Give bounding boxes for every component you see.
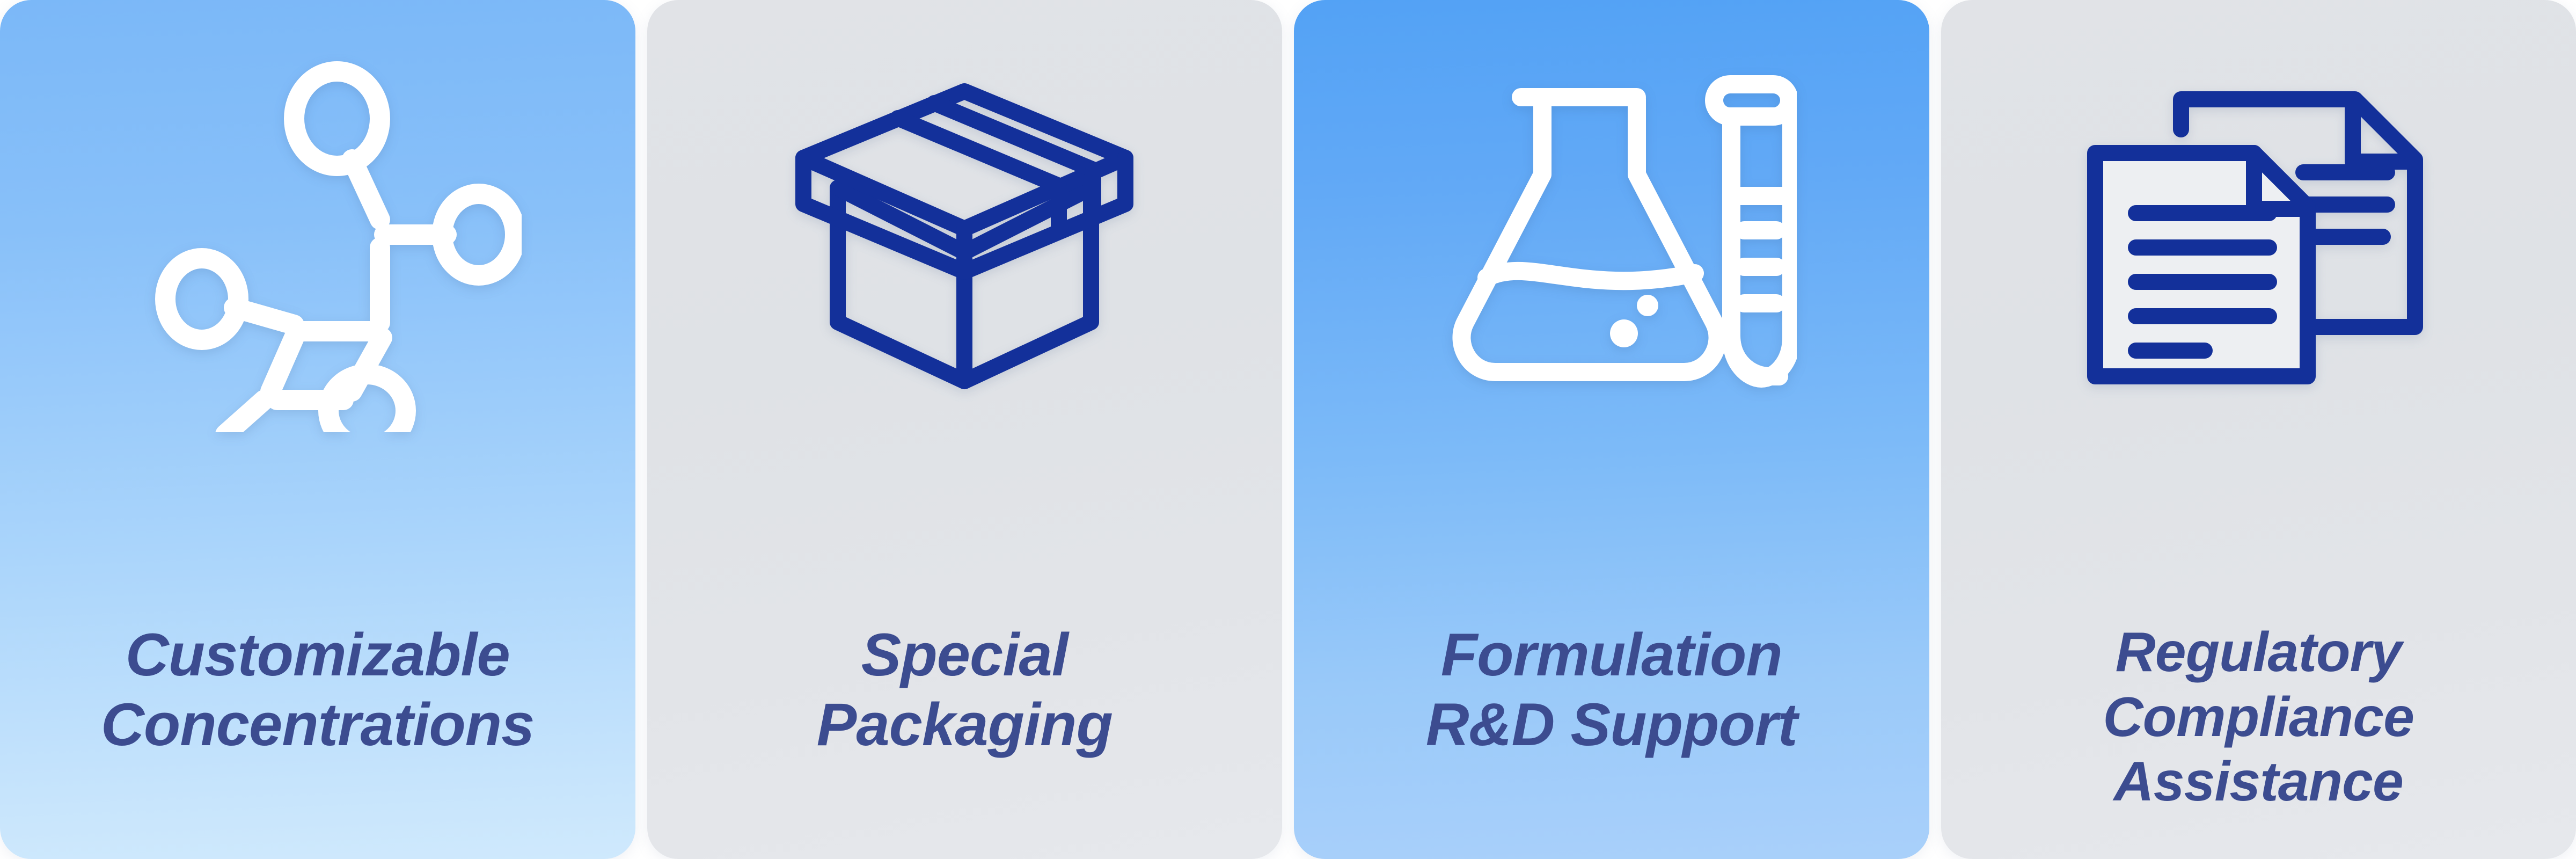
feature-card-formulation-rd-support[interactable]: Formulation R&D Support <box>1294 0 1929 859</box>
card-label-customizable-concentrations: Customizable Concentrations <box>0 620 635 760</box>
feature-card-regulatory-compliance-assistance[interactable]: Regulatory Compliance Assistance <box>1941 0 2576 859</box>
documents-icon <box>1941 21 2576 467</box>
molecule-icon <box>0 21 635 467</box>
flask-test-tube-icon <box>1294 21 1929 467</box>
feature-card-special-packaging[interactable]: Special Packaging <box>647 0 1283 859</box>
feature-card-customizable-concentrations[interactable]: Customizable Concentrations <box>0 0 635 859</box>
card-label-regulatory-compliance-assistance: Regulatory Compliance Assistance <box>1941 620 2576 814</box>
card-label-special-packaging: Special Packaging <box>647 620 1283 760</box>
package-box-icon <box>647 21 1283 467</box>
card-label-formulation-rd-support: Formulation R&D Support <box>1294 620 1929 760</box>
feature-card-grid: Customizable Concentrations Special Pack… <box>0 0 2576 859</box>
